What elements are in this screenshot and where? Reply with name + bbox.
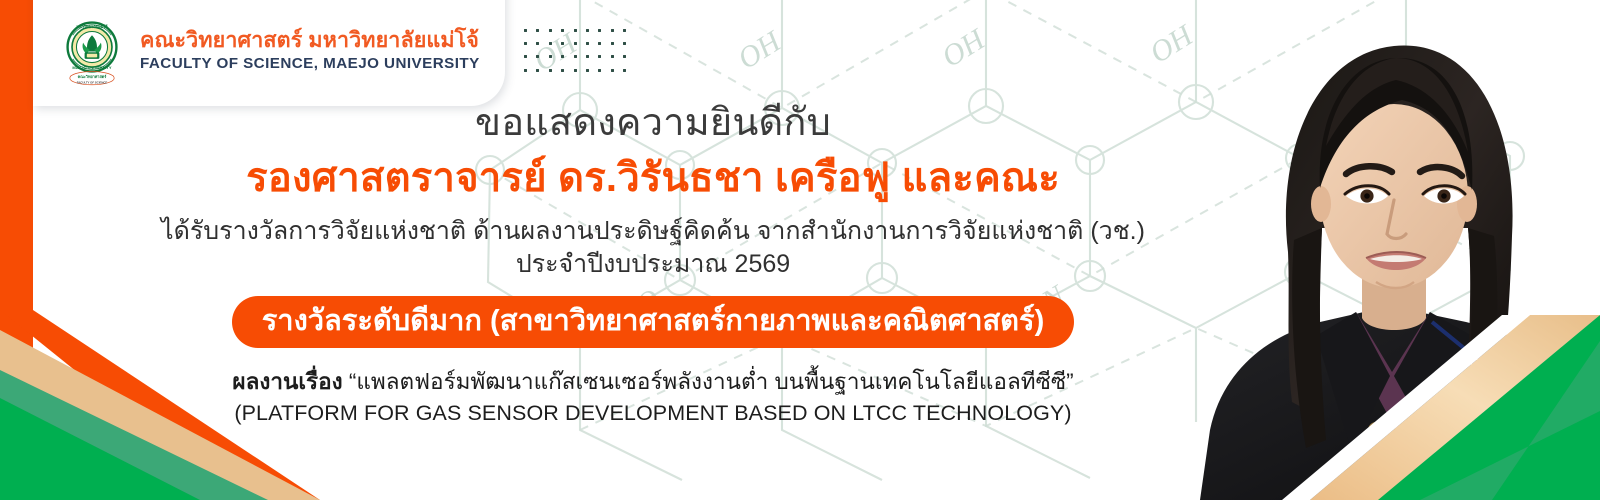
dot xyxy=(524,55,527,58)
dot-grid-top xyxy=(524,29,628,77)
award-level-badge: รางวัลระดับดีมาก (สาขาวิทยาศาสตร์กายภาพแ… xyxy=(232,296,1075,349)
svg-text:OH: OH xyxy=(1144,18,1200,70)
work-title-english: (PLATFORM FOR GAS SENSOR DEVELOPMENT BAS… xyxy=(33,398,1273,429)
maejo-university-seal-icon: มหาวิทยาลัยแม่โจ้ MAEJO UNIVERSITY คณะวิ… xyxy=(55,13,129,87)
svg-text:คณะวิทยาศาสตร์: คณะวิทยาศาสตร์ xyxy=(78,74,108,79)
dot xyxy=(611,42,614,45)
dot xyxy=(561,42,564,45)
work-label: ผลงานเรื่อง xyxy=(232,369,342,394)
dot xyxy=(586,42,589,45)
dot xyxy=(1247,474,1250,477)
award-description: ได้รับรางวัลการวิจัยแห่งชาติ ด้านผลงานปร… xyxy=(33,215,1273,282)
dot xyxy=(586,29,589,32)
dot xyxy=(536,69,539,72)
dot xyxy=(623,29,626,32)
dot xyxy=(611,29,614,32)
dot xyxy=(623,69,626,72)
dot xyxy=(1213,452,1216,455)
dot xyxy=(524,29,527,32)
dot xyxy=(574,29,577,32)
honoree-name: รองศาสตราจารย์ ดร.วิรันธชา เครือฟู และคณ… xyxy=(33,152,1273,204)
dot xyxy=(549,29,552,32)
dot xyxy=(536,42,539,45)
award-description-line-2: ประจำปีงบประมาณ 2569 xyxy=(33,248,1273,282)
work-title-block: ผลงานเรื่อง “แพลตฟอร์มพัฒนาแก๊สเซนเซอร์พ… xyxy=(33,366,1273,428)
dot xyxy=(623,42,626,45)
dot xyxy=(561,55,564,58)
dot xyxy=(524,42,527,45)
dot xyxy=(598,42,601,45)
dot xyxy=(1235,463,1238,466)
dot xyxy=(1213,474,1216,477)
dot xyxy=(1224,463,1227,466)
congratulations-heading: ขอแสดงความยินดีกับ xyxy=(33,100,1273,148)
dot xyxy=(574,69,577,72)
dot xyxy=(1235,474,1238,477)
dot xyxy=(524,69,527,72)
dot xyxy=(1224,474,1227,477)
dot xyxy=(549,55,552,58)
svg-text:FACULTY OF SCIENCE: FACULTY OF SCIENCE xyxy=(77,80,108,84)
dot xyxy=(598,29,601,32)
dot xyxy=(536,55,539,58)
svg-text:OH: OH xyxy=(732,24,788,76)
dot xyxy=(1247,463,1250,466)
faculty-name-thai: คณะวิทยาศาสตร์ มหาวิทยาลัยแม่โจ้ xyxy=(140,28,480,53)
svg-text:มหาวิทยาลัยแม่โจ้: มหาวิทยาลัยแม่โจ้ xyxy=(76,23,108,29)
work-title-thai: “แพลตฟอร์มพัฒนาแก๊สเซนเซอร์พลังงานต่ำ บน… xyxy=(349,369,1074,394)
dot xyxy=(611,55,614,58)
dot xyxy=(549,42,552,45)
logo-text-block: คณะวิทยาศาสตร์ มหาวิทยาลัยแม่โจ้ FACULTY… xyxy=(140,28,480,74)
dot xyxy=(586,69,589,72)
dot xyxy=(574,55,577,58)
dot xyxy=(574,42,577,45)
dot xyxy=(561,29,564,32)
dot xyxy=(561,69,564,72)
dot xyxy=(1258,452,1261,455)
university-logo-card: มหาวิทยาลัยแม่โจ้ MAEJO UNIVERSITY คณะวิ… xyxy=(33,0,505,106)
congratulation-banner: OH OH OH OH O N xyxy=(0,0,1600,500)
award-description-line-1: ได้รับรางวัลการวิจัยแห่งชาติ ด้านผลงานปร… xyxy=(161,217,1145,245)
dot xyxy=(611,69,614,72)
dot xyxy=(1224,452,1227,455)
dot xyxy=(1258,463,1261,466)
svg-text:MAEJO UNIVERSITY: MAEJO UNIVERSITY xyxy=(72,65,112,70)
dot xyxy=(1258,474,1261,477)
dot xyxy=(598,55,601,58)
dot xyxy=(1235,452,1238,455)
dot xyxy=(623,55,626,58)
dot xyxy=(1247,452,1250,455)
faculty-name-english: FACULTY OF SCIENCE, MAEJO UNIVERSITY xyxy=(140,54,480,74)
banner-content: ขอแสดงความยินดีกับ รองศาสตราจารย์ ดร.วิร… xyxy=(33,100,1273,429)
dot xyxy=(586,55,589,58)
dot xyxy=(598,69,601,72)
dot xyxy=(1213,463,1216,466)
dot xyxy=(536,29,539,32)
svg-text:OH: OH xyxy=(936,22,992,74)
dot xyxy=(549,69,552,72)
bottom-right-ribbon-decoration xyxy=(1270,315,1600,500)
